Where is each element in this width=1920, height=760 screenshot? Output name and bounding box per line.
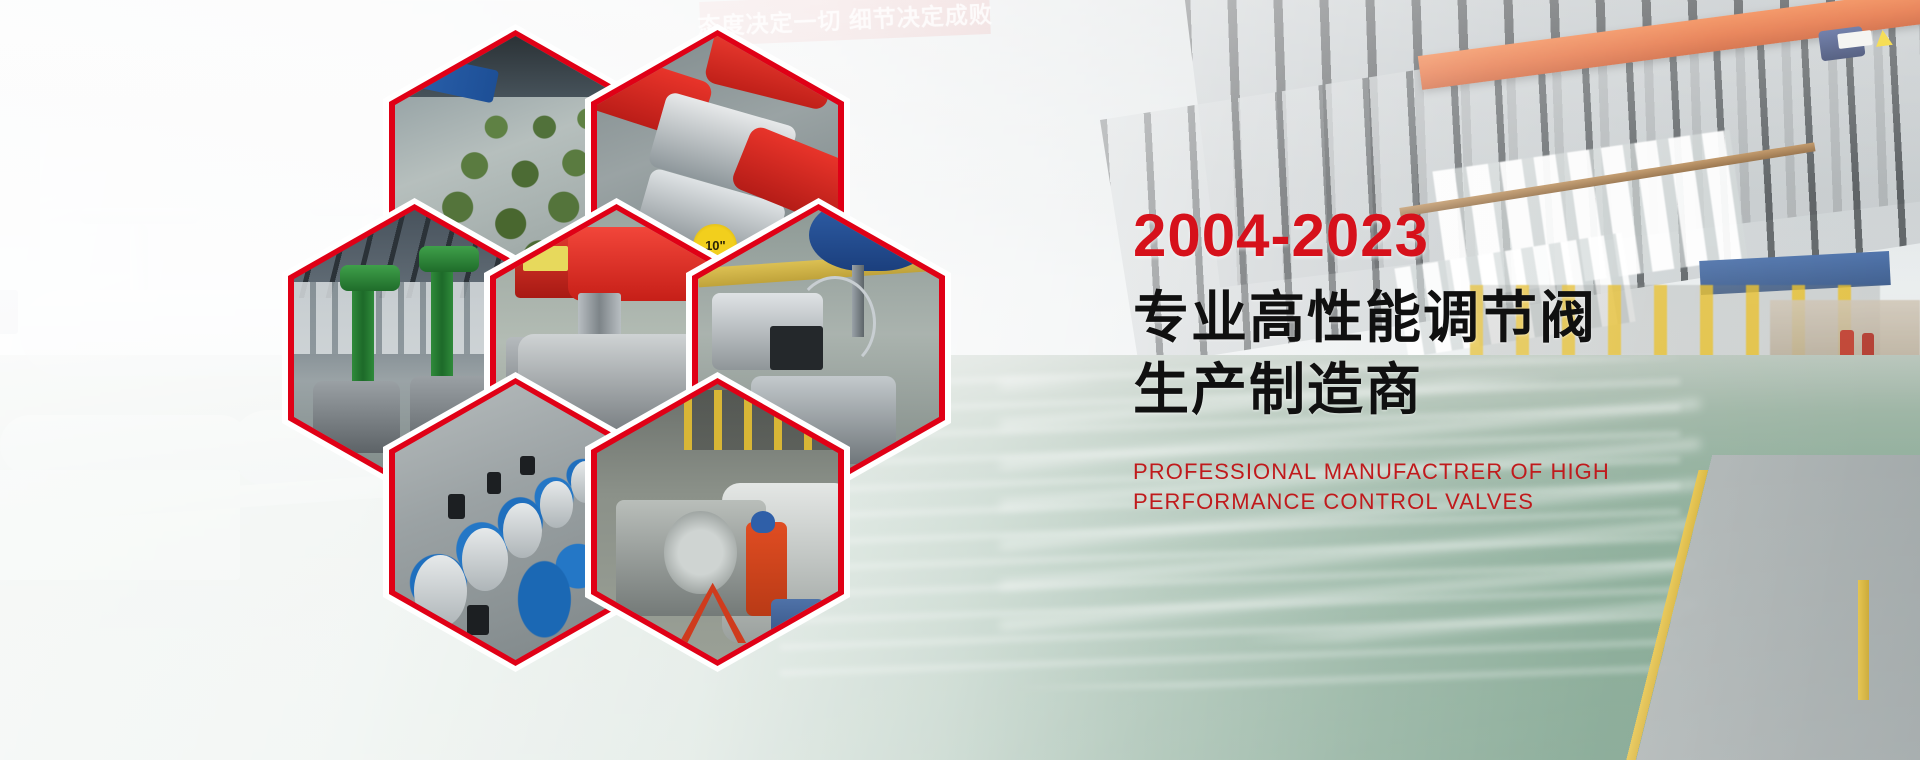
banner-hero: 态度决定一切 细节决定成败 — [0, 0, 1920, 760]
green-stem-2 — [431, 260, 453, 381]
subtitle-english: PROFESSIONAL MANUFACTRER OF HIGH PERFORM… — [1133, 457, 1833, 517]
hexagon-photo-collage: 10" — [0, 0, 900, 760]
butterfly-disc — [540, 481, 574, 528]
green-stem — [352, 276, 374, 386]
green-cap — [340, 265, 400, 291]
green-cap-2 — [419, 246, 479, 272]
headline-chinese: 专业高性能调节阀 生产制造商 — [1133, 282, 1833, 425]
butterfly-disc — [503, 503, 542, 558]
headline-block: 2004-2023 专业高性能调节阀 生产制造商 PROFESSIONAL MA… — [1133, 206, 1833, 517]
valve-lever — [520, 456, 534, 475]
valve-body — [313, 381, 400, 453]
butterfly-disc — [414, 555, 467, 627]
worker-helmet-icon — [751, 511, 775, 533]
valve-neck — [578, 293, 621, 337]
photo-worker-machine — [597, 384, 838, 660]
headline-line-1: 专业高性能调节阀 — [1133, 282, 1833, 354]
positioner-gauge-block — [770, 326, 823, 370]
subtitle-line-1: PROFESSIONAL MANUFACTRER OF HIGH — [1133, 457, 1833, 487]
hex-photo-clip — [597, 384, 838, 660]
subtitle-line-2: PERFORMANCE CONTROL VALVES — [1133, 487, 1833, 517]
actuator-shape-2 — [703, 36, 838, 111]
butterfly-disc — [462, 528, 508, 591]
machine-hub — [664, 511, 736, 594]
valve-lever — [448, 494, 465, 519]
headline-line-2: 生产制造商 — [1133, 354, 1833, 426]
years-range: 2004-2023 — [1133, 206, 1833, 266]
valve-lever — [467, 605, 489, 635]
valve-lever — [487, 472, 501, 494]
